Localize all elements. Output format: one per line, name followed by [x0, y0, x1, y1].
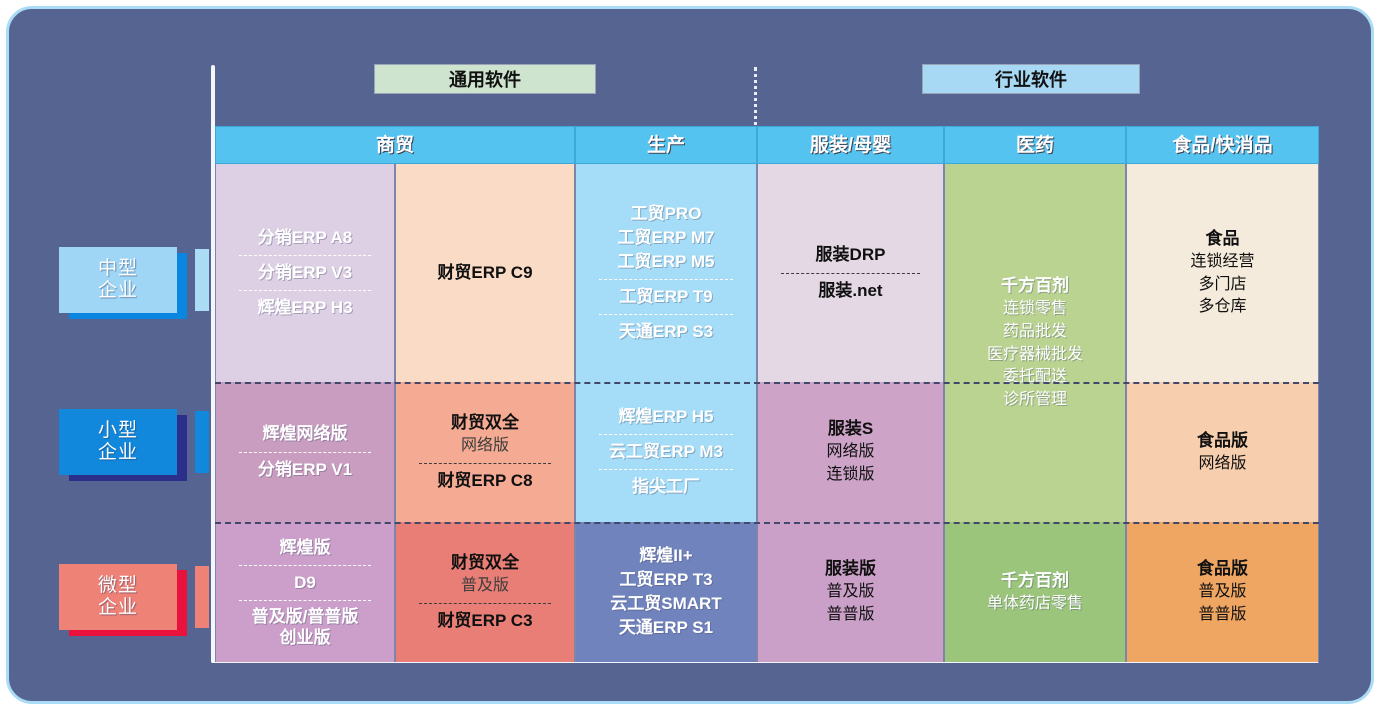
product-label: 服装DRP	[816, 243, 886, 267]
product-label: 云工贸SMART	[610, 592, 721, 616]
product-label: 网络版	[461, 435, 509, 458]
product-label: 网络版	[1198, 453, 1246, 476]
product-label: 工贸ERP M7	[618, 226, 715, 250]
product-label: 财贸双全	[451, 411, 519, 435]
product-label: 辉煌ERP H5	[618, 405, 713, 429]
product-label: 服装.net	[818, 279, 882, 303]
column-header-manufact: 生产	[575, 126, 757, 164]
product-label: 财贸ERP C3	[437, 609, 532, 633]
product-label: 辉煌网络版	[263, 422, 348, 446]
matrix-cell-food-small[interactable]: 食品版网络版	[1126, 382, 1319, 522]
product-label: 药品批发	[1003, 321, 1067, 344]
size-badge-connector	[195, 249, 209, 311]
product-label: 财贸ERP C9	[437, 261, 532, 285]
size-badge-label: 微型 企业	[98, 575, 138, 620]
product-label: 工贸ERP M5	[618, 250, 715, 274]
product-label: 连锁零售	[1003, 298, 1067, 321]
matrix-cell-food-mid[interactable]: 食品连锁经营多门店多仓库	[1126, 164, 1319, 382]
product-label: 网络版	[826, 441, 874, 464]
cell-separator	[239, 290, 372, 291]
matrix-cell-trade-a-micro[interactable]: 辉煌版D9普及版/普普版 创业版	[215, 522, 395, 662]
product-label: 普及版	[461, 575, 509, 598]
product-label: 医疗器械批发	[987, 344, 1083, 367]
product-label: 普及版	[1198, 581, 1246, 604]
cell-separator	[599, 279, 733, 280]
product-label: 千方百剂	[1001, 569, 1069, 593]
matrix-cell-food-micro[interactable]: 食品版普及版普普版	[1126, 522, 1319, 662]
column-header-food: 食品/快消品	[1126, 126, 1319, 164]
column-header-pharma: 医药	[944, 126, 1126, 164]
product-label: 委托配送	[1003, 366, 1067, 389]
product-label: 分销ERP A8	[258, 226, 352, 250]
cell-separator	[239, 255, 372, 256]
matrix-cell-manufact-mid[interactable]: 工贸PRO工贸ERP M7工贸ERP M5工贸ERP T9天通ERP S3	[575, 164, 757, 382]
product-label: 诊所管理	[1003, 389, 1067, 412]
cell-separator	[239, 565, 372, 566]
product-label: 普及版	[826, 581, 874, 604]
size-badge-label: 中型 企业	[98, 258, 138, 303]
product-label: 食品版	[1197, 429, 1248, 453]
product-label: 天通ERP S1	[619, 616, 713, 640]
cell-separator	[599, 434, 733, 435]
cell-separator	[239, 452, 372, 453]
product-label: 千方百剂	[1001, 274, 1069, 298]
product-label: 工贸PRO	[631, 202, 702, 226]
cell-separator	[599, 469, 733, 470]
diagram-canvas: 通用软件 行业软件 中型 企业小型 企业微型 企业 商贸生产服装/母婴医药食品/…	[6, 6, 1374, 704]
cell-separator	[419, 463, 552, 464]
product-label: 工贸ERP T9	[619, 285, 712, 309]
matrix-cell-manufact-small[interactable]: 辉煌ERP H5云工贸ERP M3指尖工厂	[575, 382, 757, 522]
product-label: 财贸双全	[451, 551, 519, 575]
cell-separator	[599, 314, 733, 315]
product-label: 指尖工厂	[632, 475, 700, 499]
matrix-cell-pharma-mid-small[interactable]: 千方百剂连锁零售药品批发医疗器械批发委托配送诊所管理	[944, 164, 1126, 522]
matrix-cell-pharma-micro[interactable]: 千方百剂单体药店零售	[944, 522, 1126, 662]
matrix-cell-manufact-micro[interactable]: 辉煌II+工贸ERP T3云工贸SMART天通ERP S1	[575, 522, 757, 662]
product-label: 辉煌ERP H3	[257, 296, 352, 320]
column-header-trade: 商贸	[215, 126, 575, 164]
column-header-apparel: 服装/母婴	[757, 126, 944, 164]
matrix-cell-trade-a-mid[interactable]: 分销ERP A8分销ERP V3辉煌ERP H3	[215, 164, 395, 382]
cell-separator	[781, 273, 919, 274]
product-label: 辉煌II+	[639, 544, 692, 568]
product-label: 工贸ERP T3	[619, 568, 712, 592]
matrix-cell-trade-b-micro[interactable]: 财贸双全普及版财贸ERP C3	[395, 522, 575, 662]
matrix-cell-apparel-mid[interactable]: 服装DRP服装.net	[757, 164, 944, 382]
product-label: 辉煌版	[280, 536, 331, 560]
product-label: 普普版	[1198, 604, 1246, 627]
product-label: 连锁经营	[1190, 251, 1254, 274]
cell-separator	[419, 603, 552, 604]
cell-separator	[239, 600, 372, 601]
product-label: 服装版	[825, 557, 876, 581]
product-matrix-table: 商贸生产服装/母婴医药食品/快消品分销ERP A8分销ERP V3辉煌ERP H…	[215, 126, 1319, 662]
banner-industry-software: 行业软件	[922, 64, 1140, 94]
product-label: 服装S	[828, 417, 873, 441]
product-label: 天通ERP S3	[619, 320, 713, 344]
product-label: 多门店	[1198, 274, 1246, 297]
size-badge-label: 小型 企业	[98, 420, 138, 465]
matrix-cell-trade-b-small[interactable]: 财贸双全网络版财贸ERP C8	[395, 382, 575, 522]
row-divider-1	[215, 522, 1319, 524]
product-label: 多仓库	[1198, 296, 1246, 319]
banner-general-software: 通用软件	[374, 64, 596, 94]
product-label: 单体药店零售	[987, 593, 1083, 616]
product-label: 分销ERP V1	[258, 458, 352, 482]
product-label: 云工贸ERP M3	[609, 440, 723, 464]
product-label: 食品	[1206, 227, 1240, 251]
product-label: 普及版/普普版 创业版	[252, 606, 359, 649]
size-badge-connector	[195, 411, 209, 473]
product-label: 分销ERP V3	[258, 261, 352, 285]
product-label: D9	[294, 571, 316, 595]
size-badge-connector	[195, 566, 209, 628]
product-label: 财贸ERP C8	[437, 469, 532, 493]
matrix-cell-apparel-small[interactable]: 服装S网络版连锁版	[757, 382, 944, 522]
matrix-cell-trade-b-mid[interactable]: 财贸ERP C9	[395, 164, 575, 382]
size-badge-2[interactable]: 微型 企业	[59, 564, 177, 630]
product-label: 食品版	[1197, 557, 1248, 581]
product-label: 连锁版	[826, 464, 874, 487]
row-divider-0	[215, 382, 1319, 384]
matrix-cell-apparel-micro[interactable]: 服装版普及版普普版	[757, 522, 944, 662]
size-badge-1[interactable]: 小型 企业	[59, 409, 177, 475]
matrix-cell-trade-a-small[interactable]: 辉煌网络版分销ERP V1	[215, 382, 395, 522]
size-badge-0[interactable]: 中型 企业	[59, 247, 177, 313]
product-label: 普普版	[826, 604, 874, 627]
